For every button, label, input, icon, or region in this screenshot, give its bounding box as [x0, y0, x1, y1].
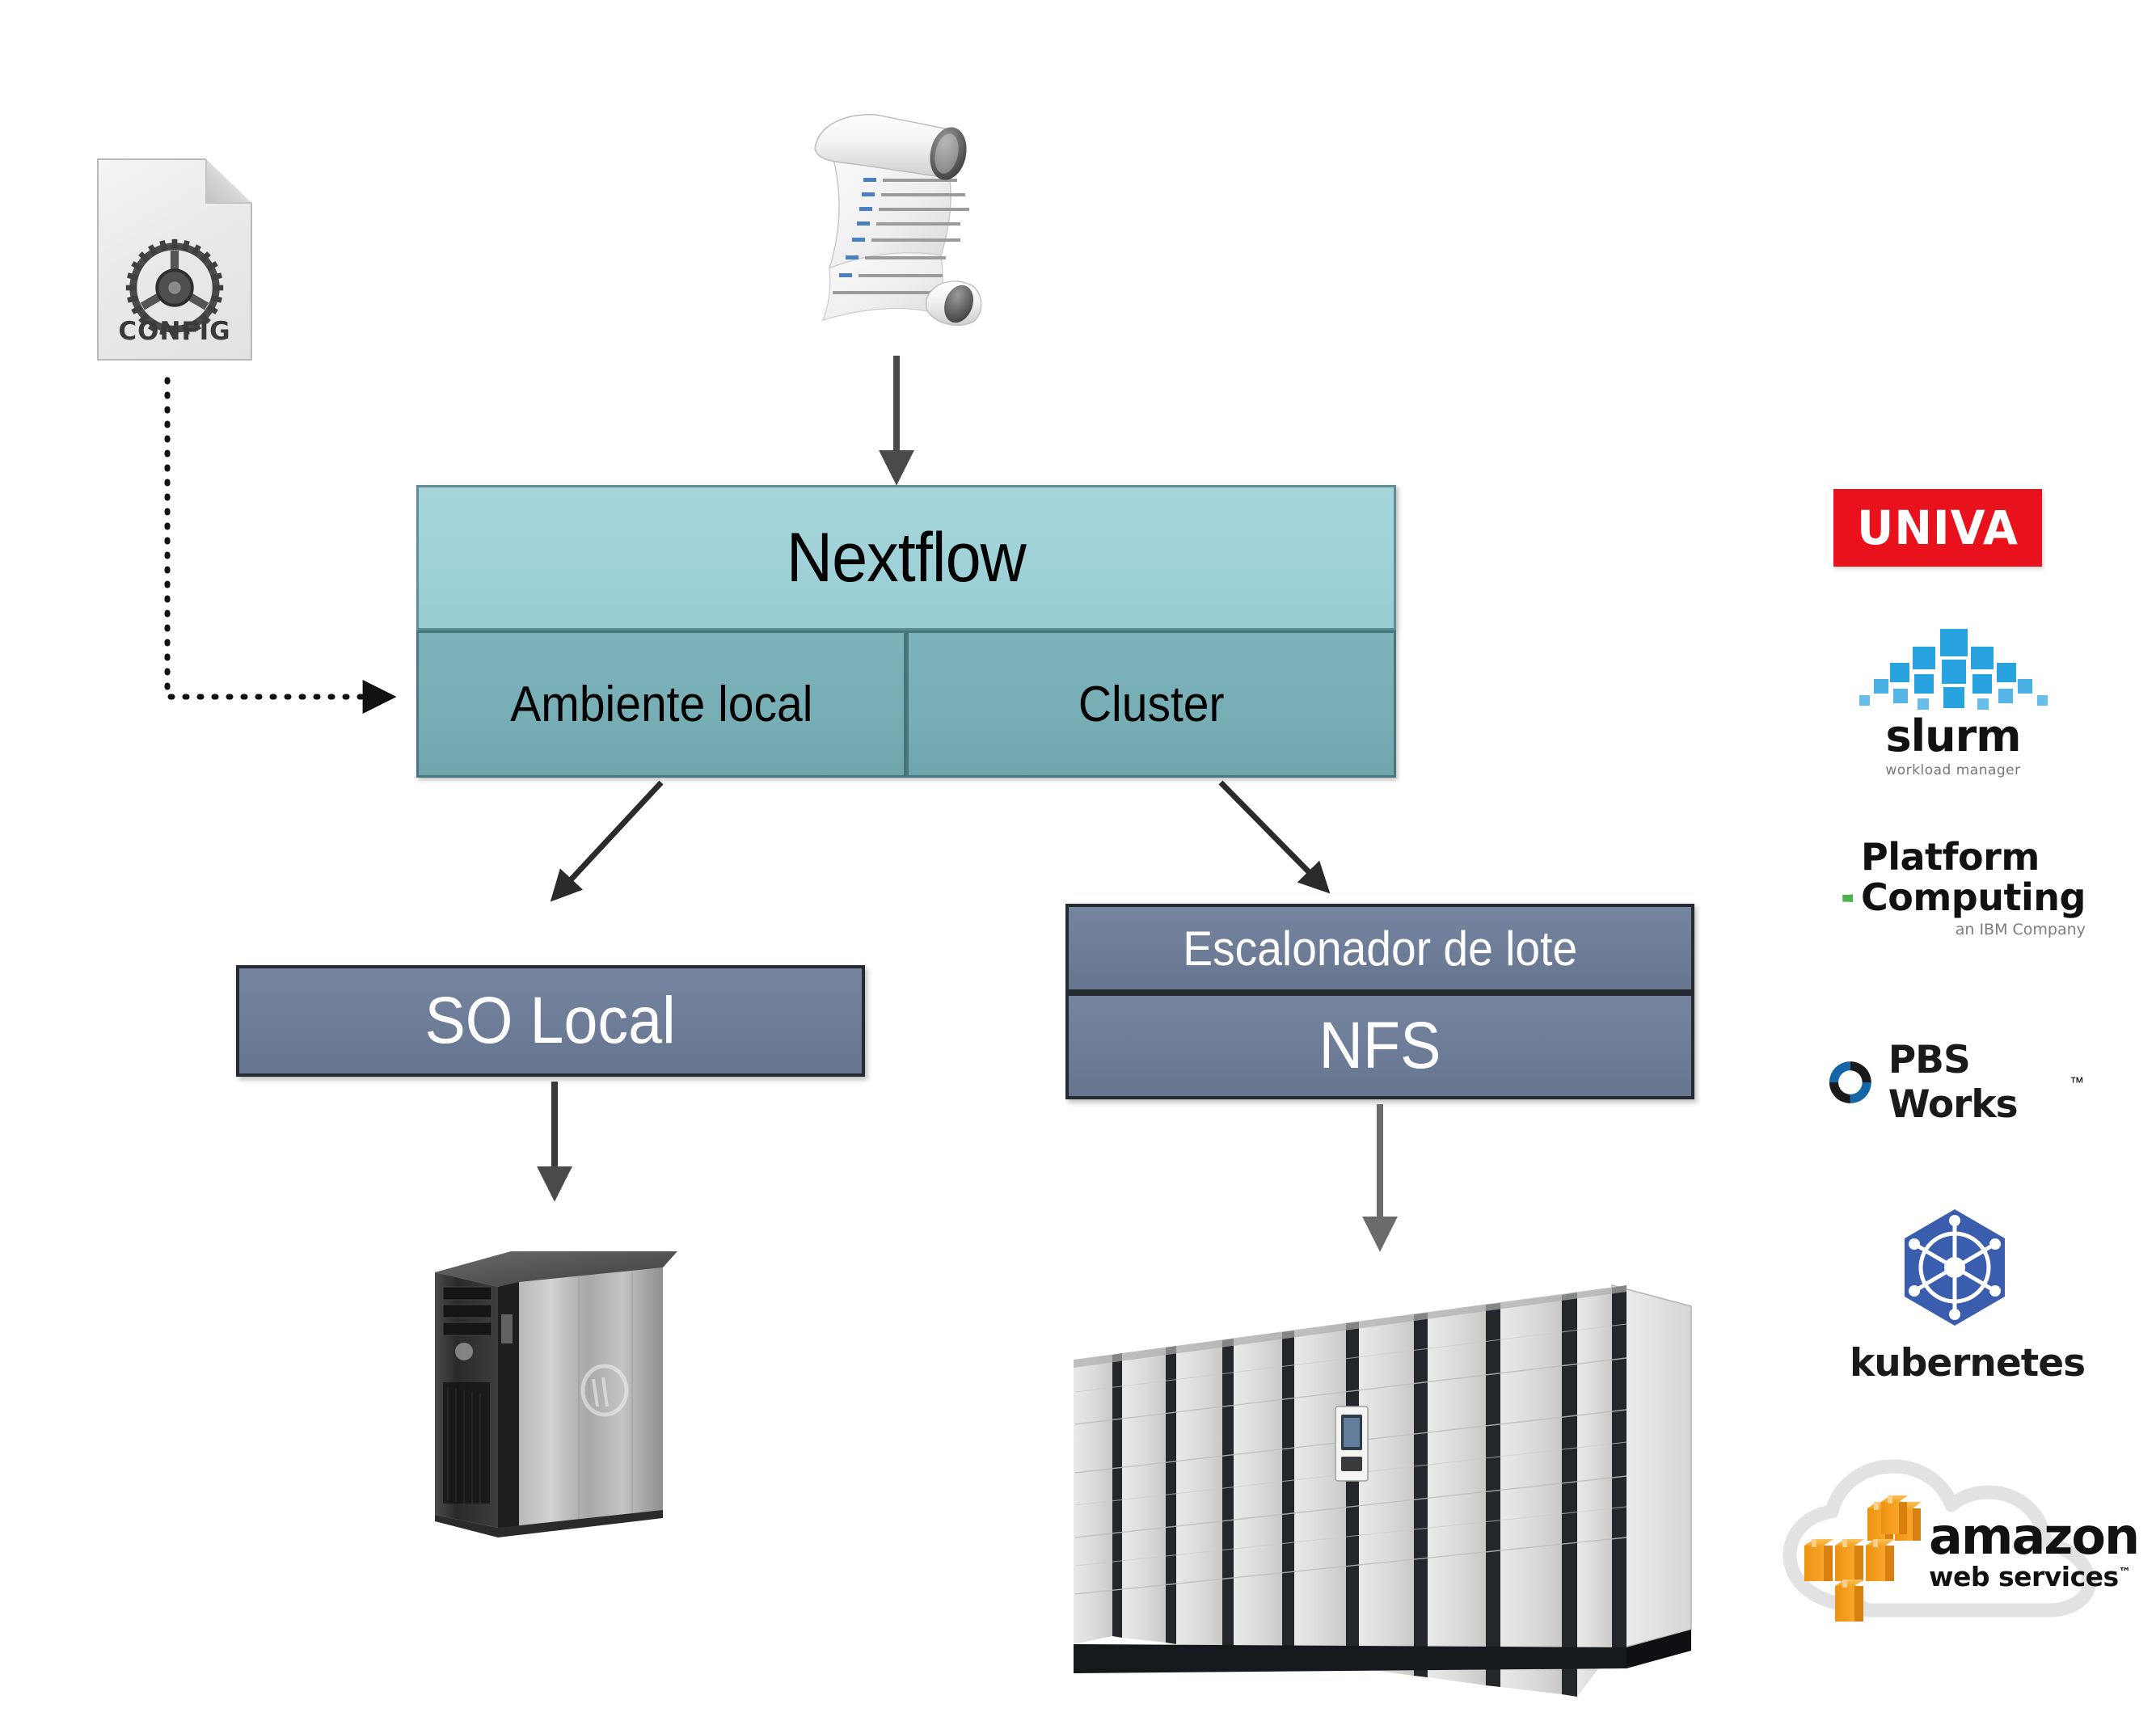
slurm-logo: slurm workload manager — [1845, 629, 2061, 782]
connector-ambiente-local-to-so-local — [555, 782, 661, 897]
cluster-box[interactable]: Cluster — [906, 631, 1396, 778]
connector-config-to-ambiente-local — [167, 380, 386, 697]
aws-trademark: ™ — [2119, 1565, 2131, 1579]
pbs-works-trademark: ™ — [2070, 1074, 2084, 1091]
nfs-box[interactable]: NFS — [1065, 993, 1694, 1099]
escalonador-de-lote-label: Escalonador de lote — [1183, 921, 1577, 976]
kubernetes-wordmark: kubernetes — [1850, 1341, 2060, 1385]
desktop-workstation-image — [420, 1237, 695, 1552]
kubernetes-helm-icon — [1850, 1204, 2060, 1334]
connector-cluster-to-escalonador — [1221, 782, 1326, 889]
aws-cubes-icon — [1799, 1492, 1945, 1638]
escalonador-de-lote-box[interactable]: Escalonador de lote — [1065, 904, 1694, 993]
platform-computing-logo: { Platform Computing an IBM Company — [1825, 831, 2084, 960]
server-rack-image — [1069, 1271, 1707, 1699]
nextflow-box[interactable]: Nextflow — [416, 485, 1396, 631]
aws-amazon-wordmark: amazon — [1929, 1513, 2138, 1559]
slurm-squares-icon — [1845, 629, 2061, 713]
nextflow-subcells: Ambiente local Cluster — [416, 631, 1396, 778]
slurm-tagline: workload manager — [1845, 762, 2061, 778]
nextflow-group: Nextflow Ambiente local Cluster — [416, 485, 1396, 778]
slurm-wordmark: slurm — [1845, 715, 2061, 758]
config-file-icon: CONFIG — [97, 158, 252, 361]
curly-brace-icon: { — [1825, 833, 1853, 952]
diagram-canvas: CONFIG — [0, 0, 2156, 1725]
config-file-label: CONFIG — [97, 317, 252, 346]
univa-wordmark: UNIVA — [1857, 500, 2019, 555]
aws-webservices-wordmark: web services — [1929, 1561, 2119, 1592]
script-scroll-icon — [783, 97, 1009, 331]
nextflow-label: Nextflow — [787, 518, 1026, 598]
aws-logo: amazon web services™ — [1770, 1455, 2110, 1633]
pbs-ring-icon — [1825, 1052, 1875, 1113]
platform-computing-line1: Platform — [1861, 837, 2086, 878]
so-local-label: SO Local — [425, 983, 676, 1059]
kubernetes-logo: kubernetes — [1850, 1204, 2060, 1382]
pbs-works-wordmark: PBS Works — [1888, 1038, 2070, 1127]
univa-logo: UNIVA — [1833, 489, 2042, 567]
platform-computing-line2: Computing — [1861, 878, 2086, 918]
pbs-works-logo: PBS Works™ — [1825, 1048, 2084, 1117]
ambiente-local-box[interactable]: Ambiente local — [416, 631, 906, 778]
so-local-box[interactable]: SO Local — [236, 965, 865, 1077]
ambiente-local-label: Ambiente local — [510, 676, 812, 733]
platform-computing-tagline: an IBM Company — [1861, 921, 2086, 938]
cluster-label: Cluster — [1078, 676, 1225, 733]
nfs-label: NFS — [1319, 1008, 1441, 1084]
